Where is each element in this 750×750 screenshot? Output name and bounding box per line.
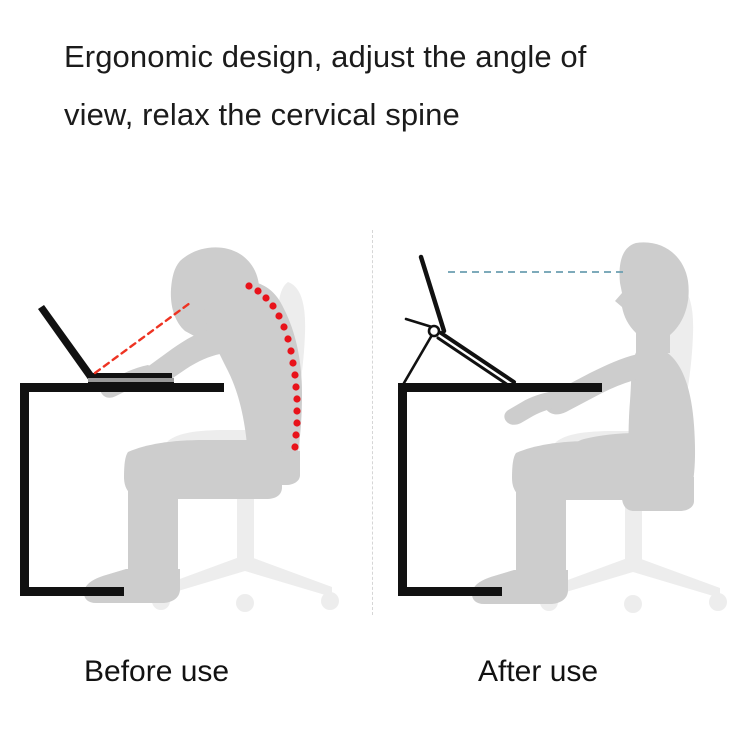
caption-row: Before use After use [0,650,750,710]
panel-after-use [378,225,750,625]
person-silhouette-upright [472,242,695,604]
laptop-on-stand [404,257,514,387]
person-silhouette-hunched [84,247,302,603]
page-title: Ergonomic design, adjust the angle of vi… [64,28,704,144]
caption-after-use: After use [478,650,598,694]
caption-before-use: Before use [84,650,229,694]
panel-divider [372,230,373,615]
laptop-flat [38,305,174,385]
after-use-illustration [378,225,750,625]
infographic-page: Ergonomic design, adjust the angle of vi… [0,0,750,750]
panel-before-use [0,225,372,625]
comparison-area [0,225,750,625]
before-use-illustration [0,225,372,625]
